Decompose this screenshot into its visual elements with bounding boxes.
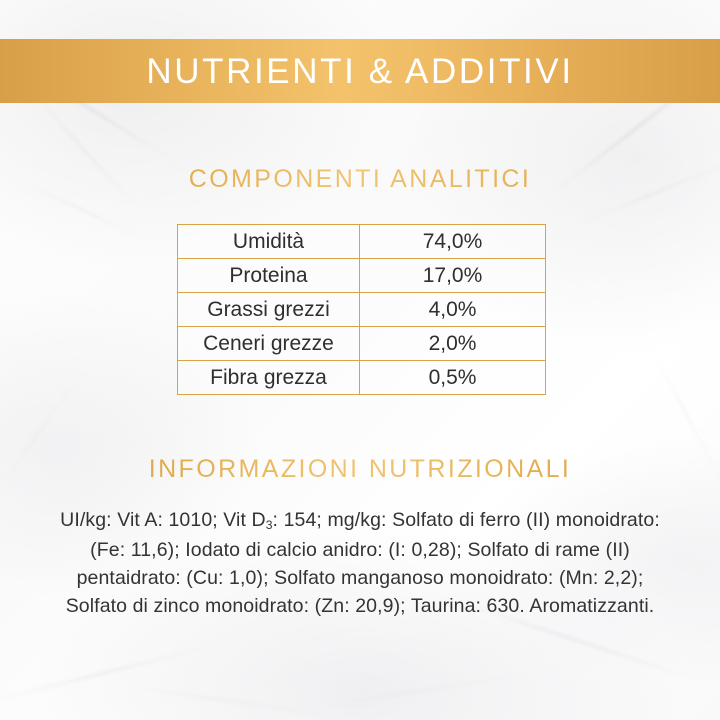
section-heading-nutritional-information: INFORMAZIONI NUTRIZIONALI	[0, 455, 720, 484]
table-cell-nutrient-name: Umidità	[178, 225, 360, 259]
table-cell-nutrient-value: 74,0%	[360, 225, 546, 259]
banner-title: NUTRIENTI & ADDITIVI	[146, 54, 573, 89]
nutritional-text-prefix: UI/kg: Vit A: 1010; Vit D	[60, 509, 266, 531]
table-cell-nutrient-value: 2,0%	[360, 327, 546, 361]
table-cell-nutrient-value: 0,5%	[360, 361, 546, 395]
table-cell-nutrient-name: Fibra grezza	[178, 361, 360, 395]
table-row: Grassi grezzi 4,0%	[178, 293, 546, 327]
table-row: Proteina 17,0%	[178, 259, 546, 293]
nutritional-information-text: UI/kg: Vit A: 1010; Vit D3: 154; mg/kg: …	[60, 506, 660, 620]
table-row: Fibra grezza 0,5%	[178, 361, 546, 395]
analytical-components-table: Umidità 74,0% Proteina 17,0% Grassi grez…	[177, 224, 546, 395]
table-row: Umidità 74,0%	[178, 225, 546, 259]
title-banner: NUTRIENTI & ADDITIVI	[0, 39, 720, 103]
table-cell-nutrient-name: Proteina	[178, 259, 360, 293]
table-cell-nutrient-value: 17,0%	[360, 259, 546, 293]
section-heading-analytical-components: COMPONENTI ANALITICI	[0, 165, 720, 194]
table-cell-nutrient-name: Ceneri grezze	[178, 327, 360, 361]
table-cell-nutrient-name: Grassi grezzi	[178, 293, 360, 327]
table-cell-nutrient-value: 4,0%	[360, 293, 546, 327]
table-row: Ceneri grezze 2,0%	[178, 327, 546, 361]
nutrition-label-page: NUTRIENTI & ADDITIVI COMPONENTI ANALITIC…	[0, 0, 720, 720]
vitamin-d3-subscript: 3	[266, 518, 273, 532]
